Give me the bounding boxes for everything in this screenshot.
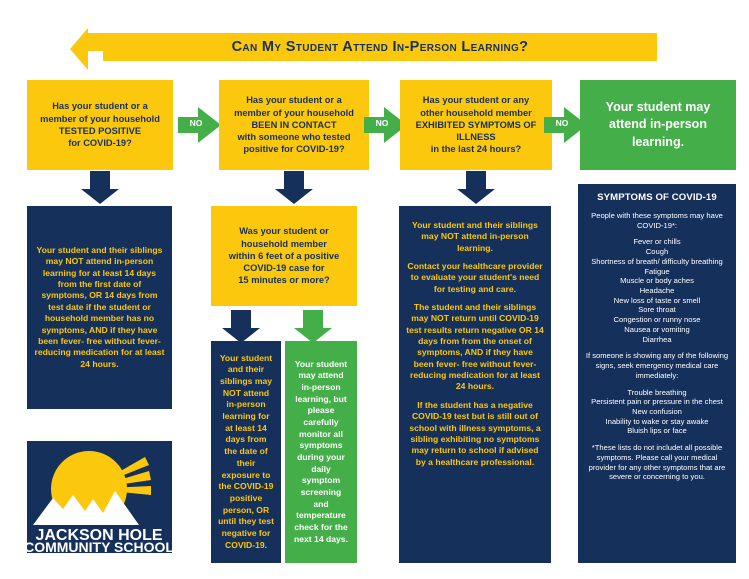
symptoms-list: Fever or chills Cough Shortness of breat…: [585, 237, 729, 344]
emergency-item: Persistent pain or pressure in the chest: [585, 397, 729, 407]
symptom-item: Fatigue: [585, 267, 729, 277]
sun-and-mountains-icon: JACKSON HOLE COMMUNITY SCHOOL: [27, 441, 172, 553]
symptom-item: Congestion or runny nose: [585, 315, 729, 325]
symptom-item: Fever or chills: [585, 237, 729, 247]
no-arrow-followup: NO: [293, 310, 333, 344]
yes-arrow-3-label: YES: [496, 176, 536, 186]
emergency-item: Bluish lips or face: [585, 426, 729, 436]
answer-box-2-no-text: Your student may attend in-person learni…: [292, 359, 350, 546]
answer-box-1-text: Your student and their siblings may NOT …: [34, 245, 165, 370]
q3-line2: other household member: [416, 107, 537, 119]
symptoms-footnote: *These lists do not includet all possibl…: [585, 443, 729, 482]
fq-line4: COVID-19 case for: [229, 262, 340, 274]
yes-arrow-3: YES: [456, 171, 496, 205]
symptom-item: Cough: [585, 247, 729, 257]
emergency-item: New confusion: [585, 407, 729, 417]
fq-line1: Was your student or: [229, 225, 340, 237]
page-title: Can My Student Attend In-Person Learning…: [232, 39, 529, 55]
q2-line3: BEEN IN CONTACT: [234, 119, 354, 131]
symptom-item: Sore throat: [585, 305, 729, 315]
no-arrow-1: NO: [178, 105, 222, 145]
header-banner: Can My Student Attend In-Person Learning…: [103, 33, 657, 61]
answer-box-2-yes: Your student and their siblings may NOT …: [211, 341, 281, 563]
answer-box-3-p3: The student and their siblings may NOT r…: [406, 302, 544, 393]
q3-line5: in the last 24 hours?: [416, 143, 537, 155]
q2-line1: Has your student or a: [234, 94, 354, 106]
emergency-intro: If someone is showing any of the followi…: [585, 351, 729, 380]
yes-arrow-1: YES: [80, 171, 120, 205]
emergency-item: Inability to wake or stay awake: [585, 417, 729, 427]
symptom-item: Shortness of breath/ difficulty breathin…: [585, 257, 729, 267]
symptom-item: Diarrhea: [585, 335, 729, 345]
symptom-item: Nausea or vomiting: [585, 325, 729, 335]
emergency-list: Trouble breathing Persistent pain or pre…: [585, 388, 729, 437]
answer-box-3-p4: If the student has a negative COVID-19 t…: [406, 400, 544, 468]
question-box-1: Has your student or a member of your hou…: [27, 80, 173, 170]
fq-line5: 15 minutes or more?: [229, 274, 340, 286]
q2-line2: member of your household: [234, 107, 354, 119]
q2-line5: positive for COVID-19?: [234, 143, 354, 155]
symptoms-panel-title: SYMPTOMS OF COVID-19: [585, 192, 729, 203]
q1-line1: Has your student or a: [40, 100, 160, 112]
answer-box-3-p2: Contact your healthcare provider to eval…: [406, 261, 544, 295]
q3-line4: ILLNESS: [416, 131, 537, 143]
yes-arrow-1-label: YES: [120, 176, 160, 186]
answer-box-3: Your student and their siblings may NOT …: [399, 206, 551, 563]
yes-arrow-followup: YES: [221, 310, 261, 344]
no-arrow-followup-label: NO: [333, 315, 373, 325]
attend-in-person-box: Your student may attend in-person learni…: [580, 80, 736, 170]
q1-line2: member of your household: [40, 113, 160, 125]
fq-line2: household member: [229, 238, 340, 250]
symptom-item: Headache: [585, 286, 729, 296]
answer-box-2-no: Your student may attend in-person learni…: [285, 341, 357, 563]
q1-line4: for COVID-19?: [40, 137, 160, 149]
yes-arrow-2-label: YES: [314, 176, 354, 186]
question-box-3: Has your student or any other household …: [400, 80, 552, 170]
fq-line3: within 6 feet of a positive: [229, 250, 340, 262]
symptoms-panel: SYMPTOMS OF COVID-19 People with these s…: [578, 184, 736, 563]
q1-line3: TESTED POSITIVE: [40, 125, 160, 137]
q3-line3: EXHIBITED SYMPTOMS OF: [416, 119, 537, 131]
attend-in-person-text: Your student may attend in-person learni…: [587, 99, 729, 152]
symptom-item: New loss of taste or smell: [585, 296, 729, 306]
followup-question-box: Was your student or household member wit…: [211, 206, 357, 306]
logo-line-2: COMMUNITY SCHOOL: [27, 539, 172, 553]
answer-box-1: Your student and their siblings may NOT …: [27, 206, 172, 409]
symptoms-panel-intro: People with these symptoms may have COVI…: [585, 211, 729, 230]
q2-line4: with someone who tested: [234, 131, 354, 143]
answer-box-2-yes-text: Your student and their siblings may NOT …: [218, 353, 274, 552]
q3-line1: Has your student or any: [416, 94, 537, 106]
symptom-item: Muscle or body aches: [585, 276, 729, 286]
answer-box-3-p1: Your student and their siblings may NOT …: [406, 220, 544, 254]
emergency-item: Trouble breathing: [585, 388, 729, 398]
infographic-page: Can My Student Attend In-Person Learning…: [0, 0, 749, 579]
question-box-2: Has your student or a member of your hou…: [219, 80, 369, 170]
yes-arrow-2: YES: [274, 171, 314, 205]
school-logo: JACKSON HOLE COMMUNITY SCHOOL: [27, 441, 172, 553]
